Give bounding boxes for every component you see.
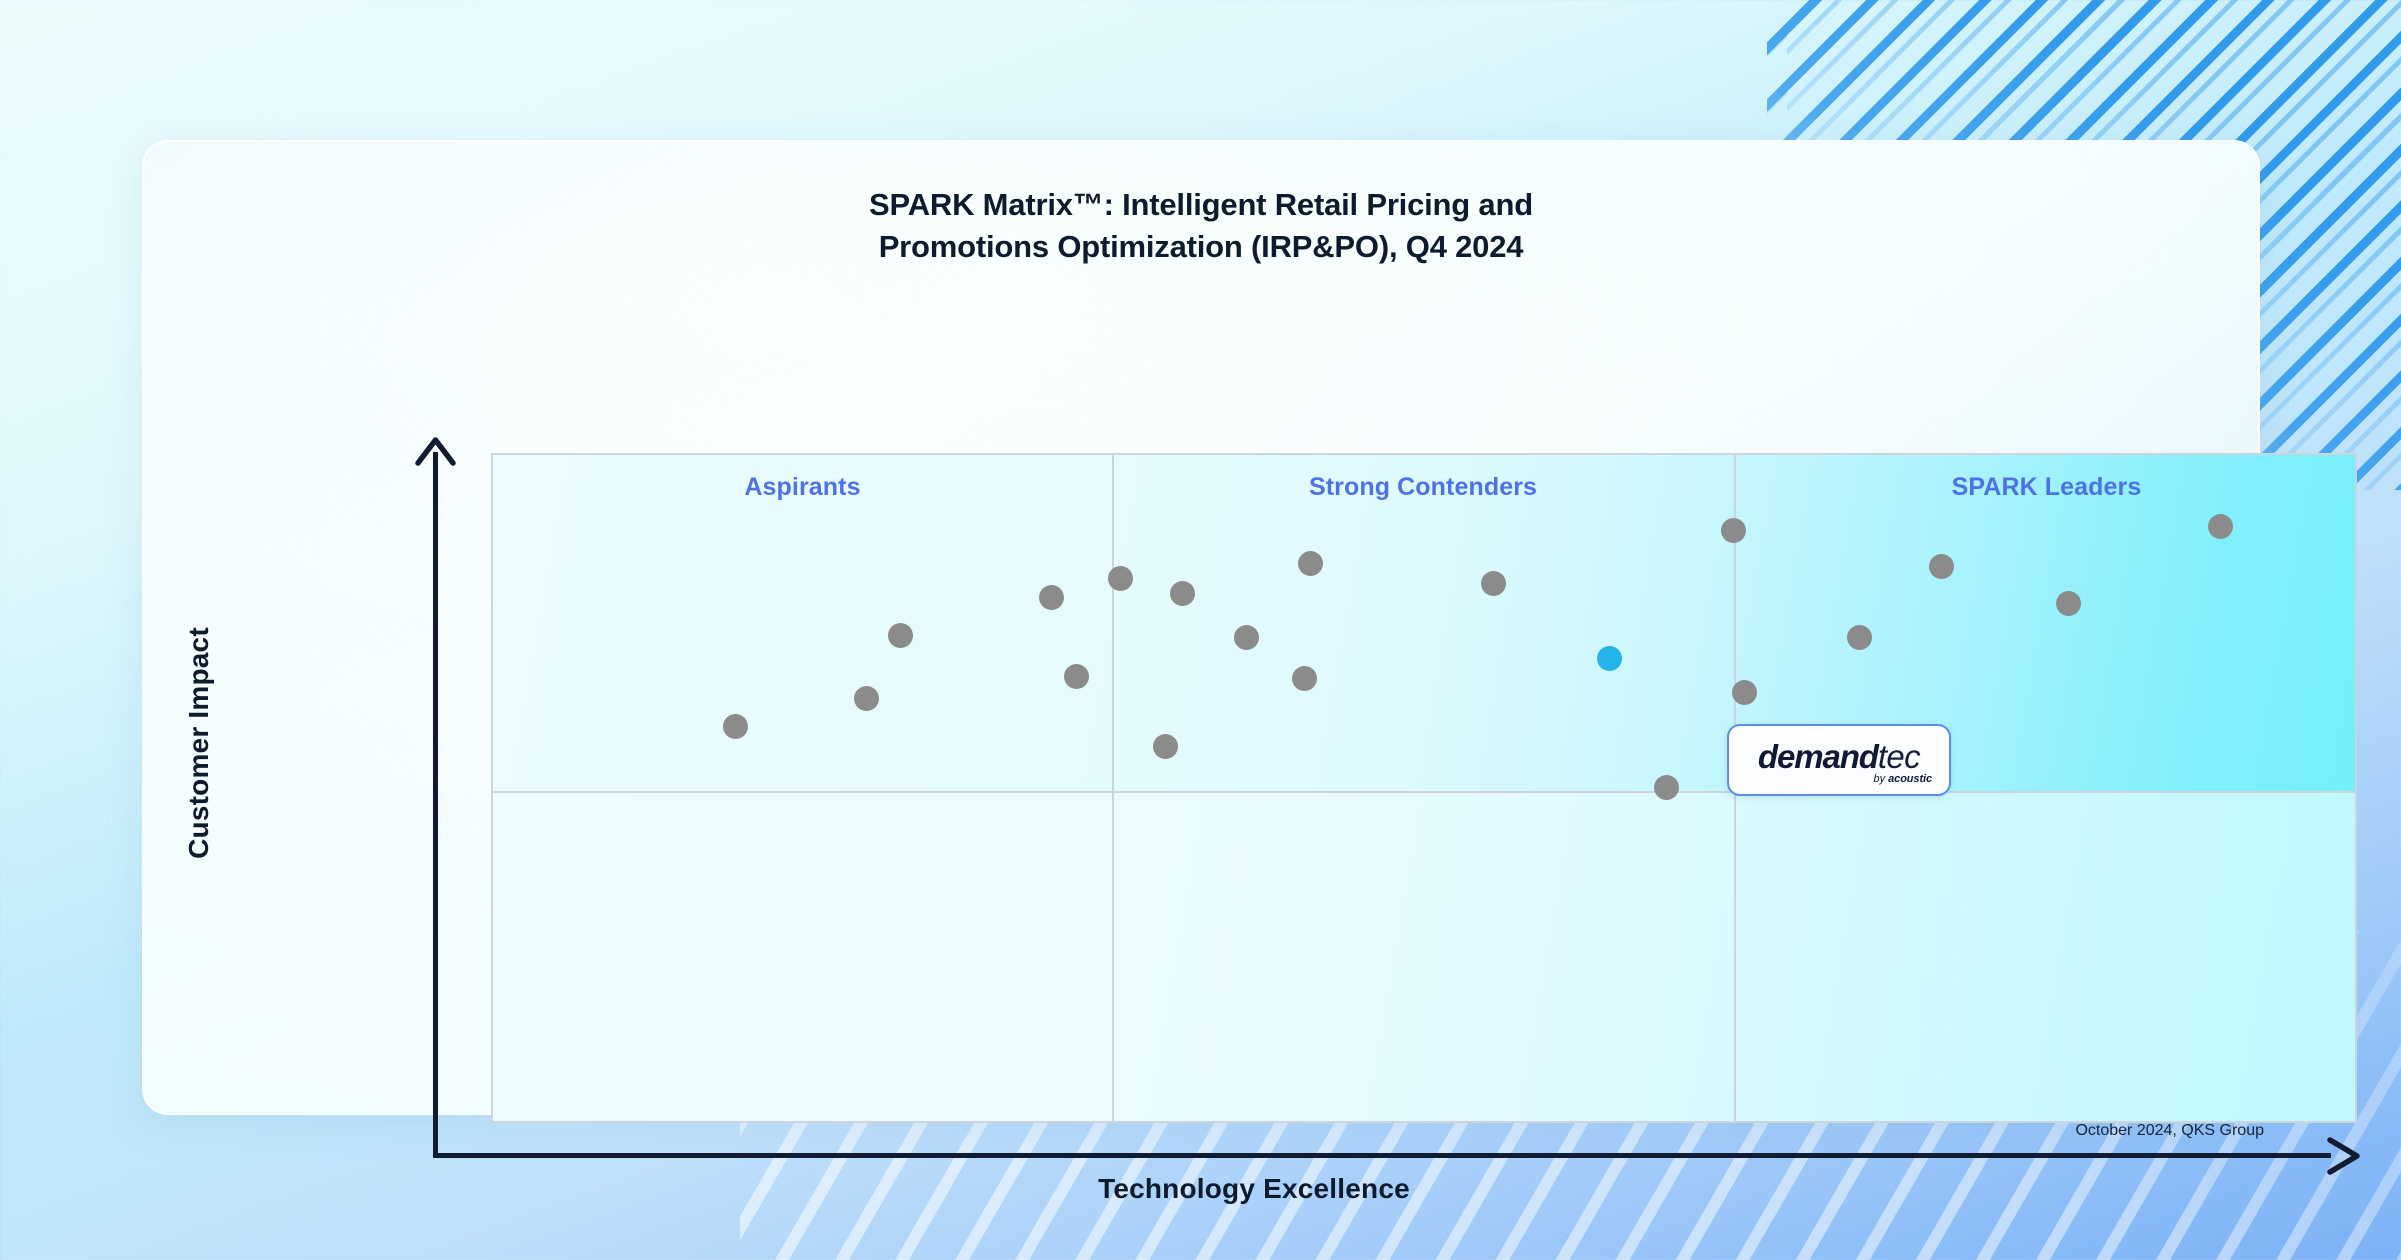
quadrant-label-spark-leaders: SPARK Leaders [1734,473,2357,502]
vendor-dot[interactable] [1039,585,1064,610]
quadrant-label-aspirants: Aspirants [493,473,1112,502]
vendor-dot[interactable] [1064,664,1089,689]
arrow-right-icon [2320,1136,2362,1176]
chart-title-line-2: Promotions Optimization (IRP&PO), Q4 202… [144,226,2258,268]
highlighted-vendor-dot[interactable] [1597,646,1622,671]
demandtec-wordmark-light: tec [1878,738,1920,775]
quadrant-label-strong-contenders: Strong Contenders [1112,473,1734,502]
quadrant-divider-horizontal [493,791,2355,793]
plot-lower-band-wash [493,792,2355,1121]
vendor-dot[interactable] [723,714,748,739]
demandtec-wordmark: demandtec [1729,740,1949,773]
vendor-dot[interactable] [1847,625,1872,650]
demandtec-byline: by acoustic [1873,773,1932,785]
vendor-dot[interactable] [1292,666,1317,691]
y-axis-line [433,452,438,1157]
vendor-dot[interactable] [888,623,913,648]
vendor-dot[interactable] [1654,775,1679,800]
vendor-dot[interactable] [1732,680,1757,705]
vendor-dot[interactable] [1929,554,1954,579]
source-note: October 2024, QKS Group [1974,1122,2264,1140]
vendor-dot[interactable] [1234,625,1259,650]
vendor-dot[interactable] [854,686,879,711]
plot-area: Aspirants Strong Contenders SPARK Leader… [491,453,2357,1123]
demandtec-vendor-callout[interactable]: demandtec by acoustic [1727,724,1951,796]
vendor-dot[interactable] [1481,571,1506,596]
chart-title: SPARK Matrix™: Intelligent Retail Pricin… [144,184,2258,268]
vendor-dot[interactable] [1108,566,1133,591]
demandtec-byline-brand: acoustic [1888,773,1932,785]
arrow-up-icon [415,436,456,466]
demandtec-byline-prefix: by [1873,773,1885,785]
vendor-dot[interactable] [2208,514,2233,539]
x-axis-label: Technology Excellence [904,1173,1604,1205]
vendor-dot[interactable] [1721,518,1746,543]
demandtec-wordmark-bold: demand [1758,738,1878,775]
vendor-dot[interactable] [2056,591,2081,616]
vendor-dot[interactable] [1153,734,1178,759]
vendor-dot[interactable] [1170,581,1195,606]
y-axis-label: Customer Impact [183,578,215,908]
quadrant-divider-vertical-1 [1112,455,1114,1121]
spark-matrix-card: SPARK Matrix™: Intelligent Retail Pricin… [142,140,2260,1115]
x-axis-line [433,1153,2331,1158]
vendor-dot[interactable] [1298,551,1323,576]
chart-title-line-1: SPARK Matrix™: Intelligent Retail Pricin… [144,184,2258,226]
